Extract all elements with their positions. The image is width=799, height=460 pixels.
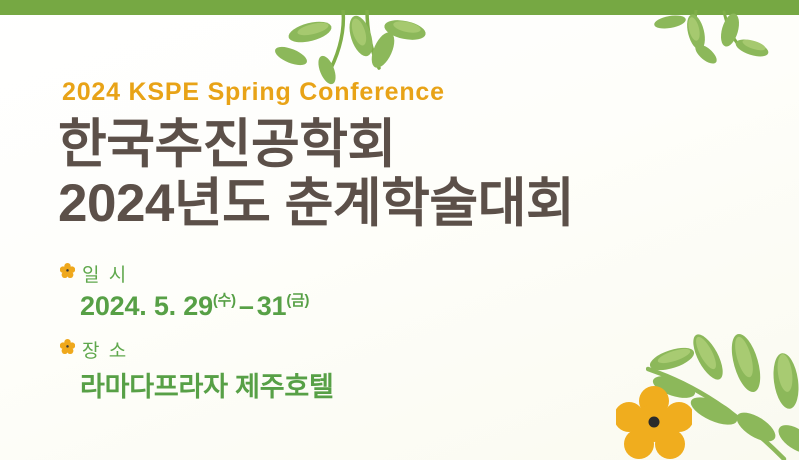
- info-label-row-venue: 장 소: [60, 336, 698, 363]
- conference-eyebrow-title: 2024 KSPE Spring Conference: [62, 78, 698, 107]
- date-weekday-start: (수): [213, 293, 236, 309]
- conference-poster: 2024 KSPE Spring Conference 한국추진공학회 2024…: [0, 0, 799, 460]
- date-main: 2024. 5. 29: [80, 291, 213, 321]
- info-value-venue: 라마다프라자 제주호텔: [80, 365, 698, 404]
- date-end: 31: [257, 291, 287, 321]
- leaf-sprig-icon-top-right: [640, 10, 790, 85]
- flower-bullet-icon-date: [60, 263, 75, 283]
- info-label-date: 일 시: [82, 260, 128, 287]
- date-weekday-end: (금): [286, 293, 309, 309]
- poster-info-block: 일 시 2024. 5. 29(수)–31(금): [58, 260, 698, 404]
- flower-bullet-icon-venue: [60, 339, 75, 359]
- info-row-date: 일 시 2024. 5. 29(수)–31(금): [58, 260, 698, 322]
- info-row-venue: 장 소 라마다프라자 제주호텔: [58, 336, 698, 404]
- top-green-band: [0, 0, 799, 15]
- date-range-dash: –: [236, 291, 257, 321]
- poster-title-line-2: 2024년도 춘계학술대회: [58, 174, 698, 233]
- info-label-row-date: 일 시: [60, 260, 698, 287]
- poster-content: 2024 KSPE Spring Conference 한국추진공학회 2024…: [58, 78, 698, 418]
- info-value-date: 2024. 5. 29(수)–31(금): [80, 289, 698, 322]
- info-label-venue: 장 소: [82, 336, 128, 363]
- poster-title-line-1: 한국추진공학회: [58, 115, 698, 174]
